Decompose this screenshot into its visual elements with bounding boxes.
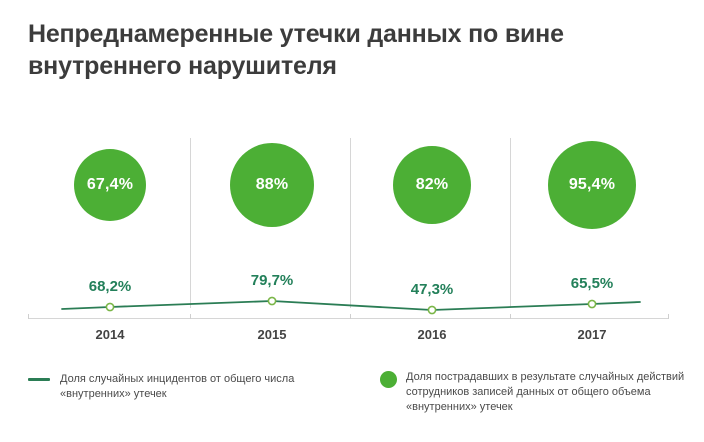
data-point-2016[interactable]	[428, 306, 435, 313]
legend-item-line-series[interactable]: Доля случайных инцидентов от общего числ…	[28, 372, 358, 402]
legend-label: Доля случайных инцидентов от общего числ…	[60, 372, 358, 402]
chart-plot-area: 67,4% 88% 82% 95,4% 68,2% 79,7% 47,3% 65…	[0, 120, 704, 340]
axis-tick	[510, 314, 511, 319]
line-series-svg	[0, 120, 704, 340]
x-axis: 2014 2015 2016 2017	[0, 318, 704, 354]
axis-tick	[350, 314, 351, 319]
point-label-2017: 65,5%	[571, 275, 614, 292]
point-label-2014: 68,2%	[89, 278, 132, 295]
axis-label-2015: 2015	[258, 327, 287, 342]
page-title: Непреднамеренные утечки данных по вине в…	[28, 18, 668, 82]
data-point-2017[interactable]	[588, 300, 595, 307]
legend-label: Доля пострадавших в результате случайных…	[406, 370, 700, 415]
line-marker-icon	[28, 378, 50, 381]
point-label-2015: 79,7%	[251, 272, 294, 289]
circle-marker-icon	[380, 371, 397, 388]
axis-label-2014: 2014	[96, 327, 125, 342]
axis-label-2016: 2016	[418, 327, 447, 342]
chart-legend: Доля случайных инцидентов от общего числ…	[0, 368, 704, 432]
axis-label-2017: 2017	[578, 327, 607, 342]
data-point-2015[interactable]	[268, 297, 275, 304]
axis-tick	[28, 314, 29, 319]
trend-line	[62, 301, 640, 310]
axis-line	[28, 318, 668, 319]
point-label-2016: 47,3%	[411, 281, 454, 298]
legend-item-bubble-series[interactable]: Доля пострадавших в результате случайных…	[380, 370, 700, 415]
data-point-2014[interactable]	[106, 303, 113, 310]
axis-tick	[668, 314, 669, 319]
axis-tick	[190, 314, 191, 319]
